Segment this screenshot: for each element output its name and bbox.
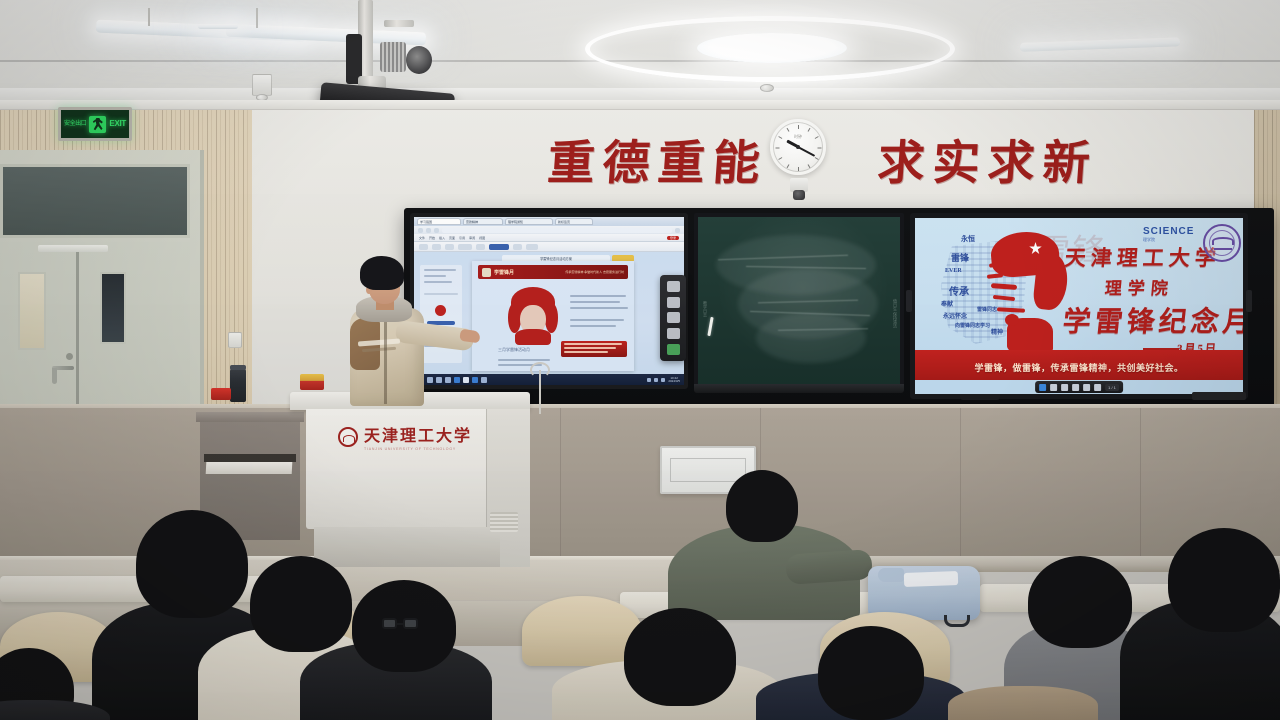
panel-side-toolbar[interactable] <box>660 275 686 361</box>
poster-eraser-icon[interactable] <box>1061 384 1068 391</box>
ribbon-tool-4[interactable] <box>458 244 472 250</box>
student-olive-jacket-arm <box>785 549 873 585</box>
podium-logo-cn: 天津理工大学 <box>364 428 472 445</box>
panel-eraser-icon[interactable] <box>667 312 680 323</box>
student-row-front-8-shoulders <box>948 686 1098 720</box>
panel-pen-icon[interactable] <box>667 297 680 308</box>
poster-select-icon[interactable] <box>1039 384 1046 391</box>
student-row-front-4-head <box>624 608 736 706</box>
clock-center-pin <box>796 145 800 149</box>
document-callout-box <box>561 341 627 357</box>
panel-screenshot-icon[interactable] <box>667 281 680 292</box>
wall-trim-rail <box>0 100 1280 110</box>
ribbon-item-b[interactable]: 开始 <box>429 236 435 240</box>
exit-sign-label-cn: 安全出口 <box>64 121 86 127</box>
door-lock-cylinder[interactable] <box>66 353 73 360</box>
ceiling-tube-light-3 <box>198 24 238 29</box>
panel-home-icon[interactable] <box>667 344 680 355</box>
door-vision-panel-left <box>18 272 46 350</box>
ribbon-item-e[interactable]: 引用 <box>459 236 465 240</box>
chalkboard: 教学日志 值日生 保持清洁 <box>694 213 904 389</box>
podium-base <box>314 527 500 567</box>
podium-seal-icon <box>338 427 358 447</box>
document-page[interactable]: 学雷锋月 传承雷锋精神 争做时代新人 志愿服务进行时 三月学雷锋活动月 <box>472 261 634 371</box>
ime-icon[interactable] <box>661 378 665 382</box>
lei-feng-portrait-illustration <box>508 287 558 345</box>
door-transom-window <box>0 164 190 238</box>
browser-tab-0[interactable]: 学习强国 <box>417 218 461 225</box>
app-ribbon-row-1[interactable]: 文件 开始 插入 页面 引用 审阅 视图 登录 <box>414 234 684 242</box>
ribbon-tool-5[interactable] <box>476 244 485 250</box>
podium-logo-en: TIANJIN UNIVERSITY OF TECHNOLOGY <box>364 447 472 451</box>
ribbon-tool-7[interactable] <box>526 244 538 250</box>
chalk-tray <box>694 384 904 393</box>
presenter-jacket-zip <box>384 316 387 404</box>
document-banner: 学雷锋月 传承雷锋精神 争做时代新人 志愿服务进行时 <box>478 265 628 279</box>
ceiling-speaker-box <box>252 74 272 96</box>
student-row-front-6-head <box>1028 556 1132 648</box>
wall-motto-left: 重德重能 <box>546 124 771 193</box>
misc-taskbar-icon[interactable] <box>481 377 487 383</box>
cloud-word-4: 奉献 <box>941 302 953 308</box>
ceiling-smoke-detector <box>760 84 774 92</box>
oval-ceiling-light <box>585 16 955 82</box>
ribbon-primary-button[interactable]: 登录 <box>667 236 679 240</box>
emergency-exit-sign: 安全出口 EXIT <box>58 107 132 141</box>
student-row-front-7-head <box>1168 528 1280 632</box>
poster-slogan: 学雷锋，做雷锋，传承雷锋精神，共创美好社会。 <box>915 361 1243 374</box>
clock-brand-label: 时钟 <box>773 134 823 140</box>
poster-shapes-icon[interactable] <box>1072 384 1079 391</box>
browser-tab-1[interactable]: 雷锋精神 <box>463 218 503 225</box>
red-yellow-box <box>300 374 324 390</box>
science-college-logo: SCIENCE 理学院 <box>1143 226 1194 243</box>
poster-surface[interactable]: 雷锋 永恒 雷锋 EVER 传承 奉献 永远怀念 雷锋同志 向雷锋同志学习 精神 <box>915 218 1243 394</box>
ribbon-item-f[interactable]: 审阅 <box>469 236 475 240</box>
poster-panel-toolbar[interactable]: 1 / 1 <box>1035 381 1123 393</box>
student-presenter <box>332 256 478 408</box>
banner-subtitle: 传承雷锋精神 争做时代新人 志愿服务进行时 <box>565 270 624 274</box>
science-logo-sub: 理学院 <box>1143 237 1194 243</box>
presenter-hand <box>459 329 480 344</box>
browser-toolbar[interactable] <box>414 226 684 234</box>
poster-redo-icon[interactable] <box>1094 384 1101 391</box>
science-logo-text: SCIENCE <box>1143 226 1194 237</box>
projector-mount-arm <box>384 20 414 27</box>
silhouette-profile <box>987 256 1045 328</box>
reload-icon[interactable] <box>434 228 439 233</box>
volume-icon[interactable] <box>654 378 658 382</box>
panel-apps-icon[interactable] <box>667 328 680 339</box>
door-handle-stem <box>52 368 57 384</box>
cloud-word-2: EVER <box>945 268 962 274</box>
podium-gooseneck-mic <box>526 362 556 414</box>
student-olive-jacket-head <box>726 470 798 542</box>
ribbon-item-c[interactable]: 插入 <box>439 236 445 240</box>
ribbon-item-d[interactable]: 页面 <box>449 236 455 240</box>
poster-undo-icon[interactable] <box>1083 384 1090 391</box>
panel-bezel-knob-left[interactable] <box>906 290 912 312</box>
banner-title: 学雷锋月 <box>494 269 514 276</box>
chalk-stick[interactable] <box>707 317 713 336</box>
student-row-front-2-head <box>250 556 352 652</box>
projector-heatsink <box>380 42 406 72</box>
red-box-small <box>211 388 231 400</box>
door-vision-panel-right <box>100 272 126 344</box>
wall-motto-right: 求实求新 <box>876 124 1101 193</box>
chalkboard-side-label-right: 值日生 保持清洁 <box>890 275 898 351</box>
ribbon-tool-1[interactable] <box>419 244 428 250</box>
browser-tab-3[interactable]: 新标签页 <box>555 218 593 225</box>
exit-sign-label-en: EXIT <box>109 120 126 128</box>
student-row-front-1-head <box>136 510 248 618</box>
podium-university-logo: 天津理工大学 TIANJIN UNIVERSITY OF TECHNOLOGY <box>338 422 472 451</box>
app-ribbon-row-2[interactable] <box>414 242 684 252</box>
university-seal-icon <box>1203 224 1241 262</box>
wall-camera <box>793 190 805 200</box>
banner-logo-icon <box>482 268 491 277</box>
lei-feng-wordcloud: 永恒 雷锋 EVER 传承 奉献 永远怀念 雷锋同志 向雷锋同志学习 精神 <box>939 230 1069 350</box>
interactive-panel-right[interactable]: 雷锋 永恒 雷锋 EVER 传承 奉献 永远怀念 雷锋同志 向雷锋同志学习 精神 <box>910 213 1248 399</box>
lei-feng-red-silhouette <box>981 230 1073 352</box>
thermos-cap <box>230 365 246 370</box>
panel-bezel-knob-right[interactable] <box>1246 290 1252 312</box>
browser-tab-bar[interactable]: 学习强国 雷锋精神 理学院通知 新标签页 <box>414 217 684 226</box>
network-icon[interactable] <box>647 378 651 382</box>
browser-tab-2[interactable]: 理学院通知 <box>505 218 553 225</box>
taskbar-date: 2024/3/5 <box>668 379 680 383</box>
ribbon-item-g[interactable]: 视图 <box>479 236 485 240</box>
panel-model-plate <box>1192 392 1246 400</box>
poster-university-name: 天津理工大学 <box>1064 242 1223 272</box>
lectern-podium: 天津理工大学 TIANJIN UNIVERSITY OF TECHNOLOGY <box>290 392 530 567</box>
projector-lens <box>406 46 432 74</box>
student-row-front-5-head <box>818 626 924 720</box>
ribbon-tool-3[interactable] <box>445 244 454 250</box>
lecture-hall-photo: 安全出口 EXIT 重德重能 求实求新 时钟 <box>0 0 1280 720</box>
poster-page-indicator[interactable]: 1 / 1 <box>1105 384 1119 391</box>
ribbon-item-a[interactable]: 文件 <box>419 236 425 240</box>
ribbon-tool-2[interactable] <box>432 244 441 250</box>
poster-pen-icon[interactable] <box>1050 384 1057 391</box>
wall-clock: 时钟 <box>770 119 826 175</box>
forward-icon[interactable] <box>426 228 431 233</box>
cloud-word-1: 雷锋 <box>951 254 969 263</box>
poster-college-name: 理学院 <box>1104 274 1175 299</box>
back-icon[interactable] <box>418 228 423 233</box>
panel-logo-plate <box>960 394 1000 400</box>
chalkboard-side-label-left: 教学日志 <box>700 279 708 339</box>
cloud-word-3: 传承 <box>949 288 969 298</box>
light-stem-1 <box>148 8 150 26</box>
ribbon-tool-6[interactable] <box>513 244 522 250</box>
cloud-word-0: 永恒 <box>961 236 975 243</box>
address-bar[interactable] <box>442 228 672 233</box>
running-man-icon <box>89 116 106 133</box>
light-switch-plate[interactable] <box>228 332 242 348</box>
cloud-word-5: 永远怀念 <box>943 314 967 320</box>
ribbon-tool-highlight[interactable] <box>489 244 509 250</box>
podium-vent-grille <box>490 512 518 532</box>
menu-icon[interactable] <box>675 228 680 233</box>
document-caption: 三月学雷锋活动月 <box>498 347 530 353</box>
door-closer-bar <box>38 245 108 252</box>
poster-theme-title: 学雷锋纪念月 <box>1061 300 1248 340</box>
light-stem-2 <box>256 8 258 28</box>
thermos-bottle <box>230 368 246 402</box>
clock-minute-hand <box>798 146 816 157</box>
